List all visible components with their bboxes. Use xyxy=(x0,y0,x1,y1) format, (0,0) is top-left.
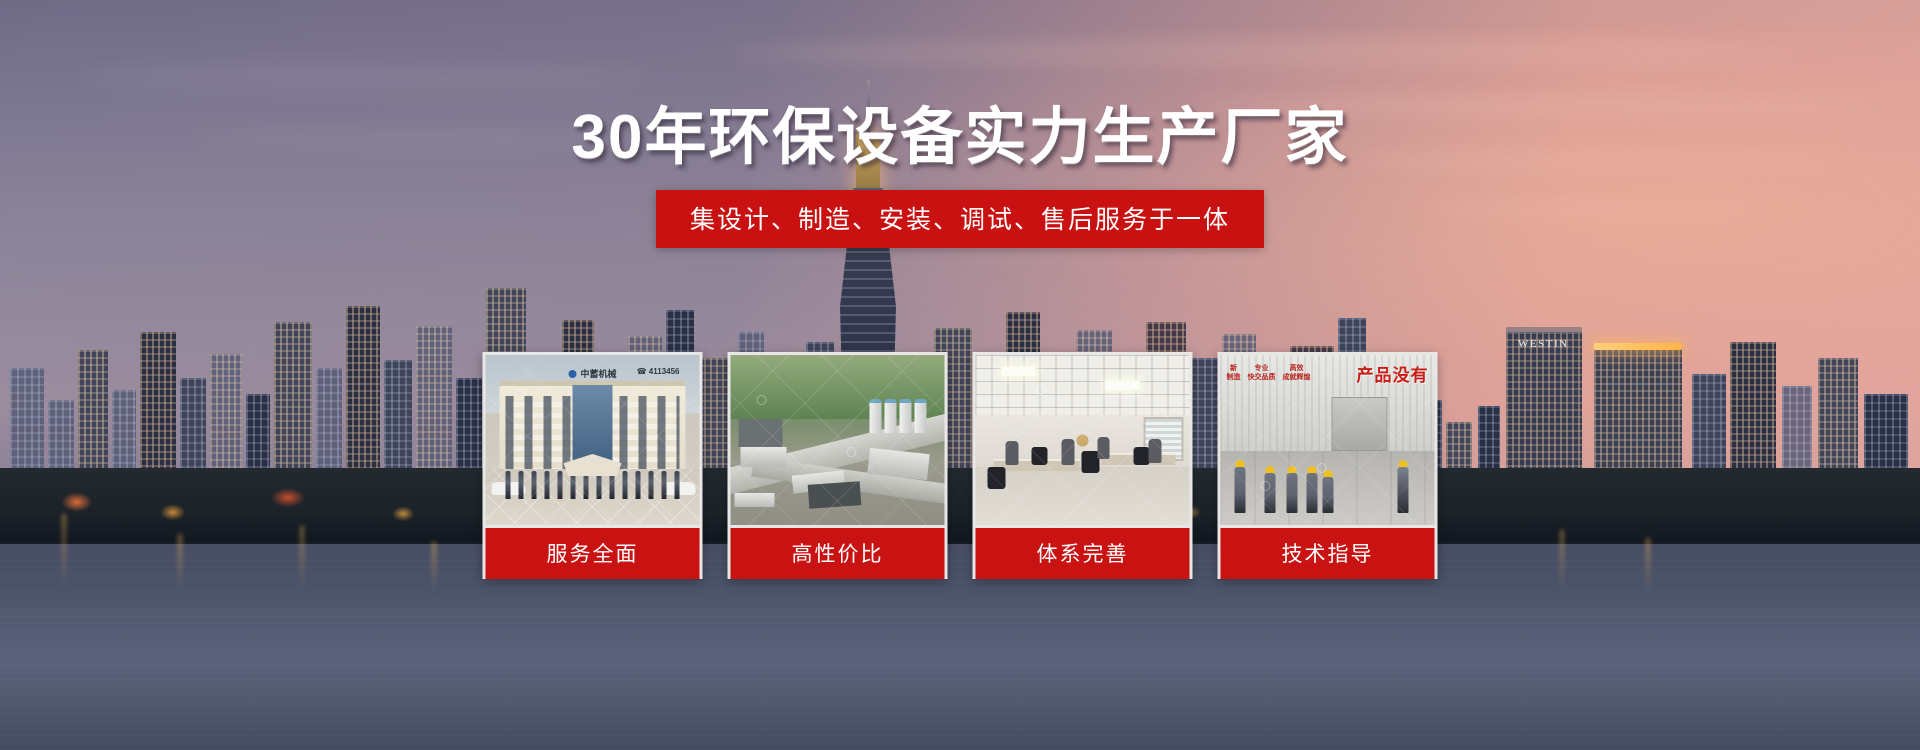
feature-card[interactable]: 产品没有 新制造 专业快交品质 高效成就辉煌 技术指导 xyxy=(1218,352,1438,579)
wall-slogan-1: 新制造 xyxy=(1227,365,1241,383)
card-label: 服务全面 xyxy=(486,528,700,579)
lit-roof-edge xyxy=(1594,343,1682,350)
cloud-band xyxy=(1421,200,1767,218)
aerial-factory-plant-photo xyxy=(731,355,945,525)
card-label: 体系完善 xyxy=(976,528,1190,579)
wall-slogan-2: 专业快交品质 xyxy=(1248,365,1276,383)
company-office-building-photo: 中蓄机械 ☎ 4113456 xyxy=(486,355,700,525)
subtitle-badge: 集设计、制造、安装、调试、售后服务于一体 xyxy=(656,190,1264,248)
wall-slogan-3: 高效成就辉煌 xyxy=(1283,365,1311,383)
company-logo-icon xyxy=(568,370,576,378)
workshop-workers-training-photo: 产品没有 新制造 专业快交品质 高效成就辉煌 xyxy=(1221,355,1435,525)
feature-card[interactable]: 高性价比 xyxy=(728,352,948,579)
roof-sign-westin: WESTIN xyxy=(1518,338,1569,350)
cloud-band xyxy=(730,40,1805,66)
building-phone-number: ☎ 4113456 xyxy=(637,367,680,376)
wall-banner-text: 产品没有 xyxy=(1357,361,1429,386)
phone-icon: ☎ xyxy=(637,367,647,376)
card-label: 技术指导 xyxy=(1221,528,1435,579)
feature-card[interactable]: 中蓄机械 ☎ 4113456 服务全面 xyxy=(483,352,703,579)
cloud-band xyxy=(77,62,653,92)
building-company-sign: 中蓄机械 xyxy=(568,367,616,380)
feature-card[interactable]: 体系完善 xyxy=(973,352,1193,579)
card-label: 高性价比 xyxy=(731,528,945,579)
office-interior-staff-photo xyxy=(976,355,1190,525)
page-title: 30年环保设备实力生产厂家 xyxy=(0,105,1920,170)
wall-slogans: 新制造 专业快交品质 高效成就辉煌 xyxy=(1227,365,1311,383)
feature-card-list: 中蓄机械 ☎ 4113456 服务全面 xyxy=(483,352,1438,579)
hero-banner: WESTIN 30年环保设备实力生产厂家 集设计、制造、安装、调试、售后服务于一… xyxy=(0,0,1920,750)
